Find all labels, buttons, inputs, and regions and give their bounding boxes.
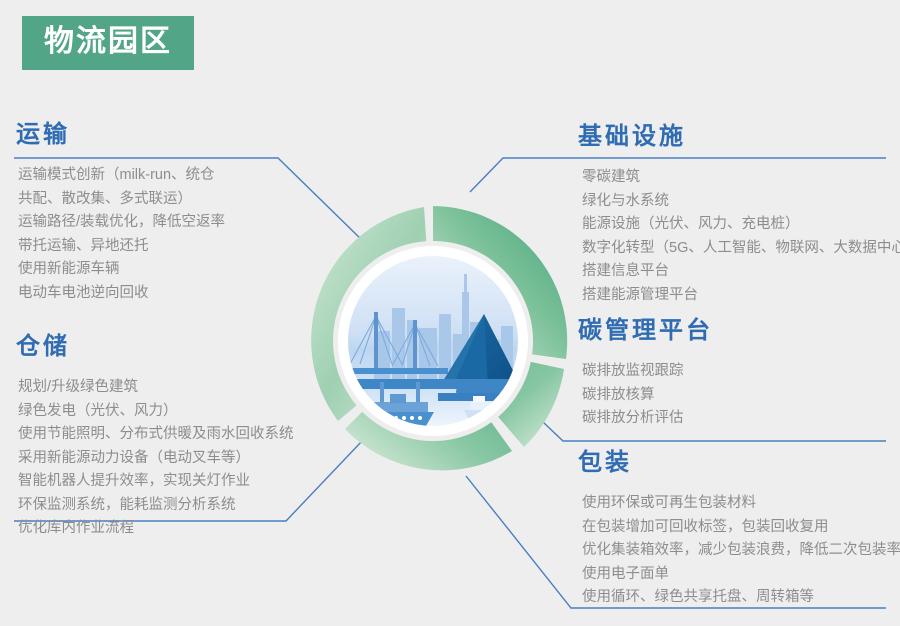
- list-item: 搭建能源管理平台: [582, 284, 900, 308]
- infographic-canvas: 物流园区: [0, 0, 900, 626]
- list-item: 碳排放核算: [582, 384, 713, 408]
- list-item: 搭建信息平台: [582, 260, 900, 284]
- section-infrastructure-lines: 零碳建筑 绿化与水系统 能源设施（光伏、风力、充电桩） 数字化转型（5G、人工智…: [578, 166, 900, 307]
- logistics-park-illustration: [288, 196, 578, 486]
- list-item: 使用节能照明、分布式供暖及雨水回收系统: [18, 423, 294, 447]
- list-item: 运输模式创新（milk-run、统仓: [18, 164, 225, 188]
- section-packaging-heading: 包装: [578, 448, 900, 478]
- section-warehouse-heading: 仓储: [16, 332, 294, 362]
- list-item: 碳排放监视跟踪: [582, 360, 713, 384]
- list-item: 在包装增加可回收标签，包装回收复用: [582, 516, 900, 540]
- section-warehouse: 仓储 规划/升级绿色建筑 绿色发电（光伏、风力） 使用节能照明、分布式供暖及雨水…: [16, 332, 294, 541]
- section-warehouse-lines: 规划/升级绿色建筑 绿色发电（光伏、风力） 使用节能照明、分布式供暖及雨水回收系…: [16, 376, 294, 541]
- list-item: 使用环保或可再生包装材料: [582, 492, 900, 516]
- list-item: 数字化转型（5G、人工智能、物联网、大数据中心）: [582, 237, 900, 261]
- list-item: 电动车电池逆向回收: [18, 282, 225, 306]
- list-item: 共配、散改集、多式联运）: [18, 188, 225, 212]
- section-packaging: 包装 使用环保或可再生包装材料 在包装增加可回收标签，包装回收复用 优化集装箱效…: [578, 448, 900, 610]
- list-item: 采用新能源动力设备（电动叉车等）: [18, 447, 294, 471]
- list-item: 环保监测系统，能耗监测分析系统: [18, 494, 294, 518]
- list-item: 智能机器人提升效率，实现关灯作业: [18, 470, 294, 494]
- list-item: 使用电子面单: [582, 563, 900, 587]
- list-item: 规划/升级绿色建筑: [18, 376, 294, 400]
- page-title-badge: 物流园区: [22, 16, 194, 70]
- list-item: 绿化与水系统: [582, 190, 900, 214]
- list-item: 使用循环、绿色共享托盘、周转箱等: [582, 586, 900, 610]
- section-infrastructure-heading: 基础设施: [578, 122, 900, 152]
- list-item: 能源设施（光伏、风力、充电桩）: [582, 213, 900, 237]
- section-infrastructure: 基础设施 零碳建筑 绿化与水系统 能源设施（光伏、风力、充电桩） 数字化转型（5…: [578, 122, 900, 307]
- section-transport-lines: 运输模式创新（milk-run、统仓 共配、散改集、多式联运） 运输路径/装载优…: [16, 164, 225, 305]
- list-item: 运输路径/装载优化，降低空返率: [18, 211, 225, 235]
- page-title: 物流园区: [44, 24, 172, 60]
- section-transport-heading: 运输: [16, 120, 225, 150]
- section-packaging-lines: 使用环保或可再生包装材料 在包装增加可回收标签，包装回收复用 优化集装箱效率，减…: [578, 492, 900, 610]
- section-carbon-platform-heading: 碳管理平台: [578, 316, 713, 346]
- list-item: 零碳建筑: [582, 166, 900, 190]
- list-item: 碳排放分析评估: [582, 407, 713, 431]
- list-item: 使用新能源车辆: [18, 258, 225, 282]
- list-item: 带托运输、异地还托: [18, 235, 225, 259]
- list-item: 优化集装箱效率，减少包装浪费，降低二次包装率: [582, 539, 900, 563]
- section-carbon-platform-lines: 碳排放监视跟踪 碳排放核算 碳排放分析评估: [578, 360, 713, 431]
- list-item: 优化库内作业流程: [18, 517, 294, 541]
- section-transport: 运输 运输模式创新（milk-run、统仓 共配、散改集、多式联运） 运输路径/…: [16, 120, 225, 305]
- list-item: 绿色发电（光伏、风力）: [18, 400, 294, 424]
- section-carbon-platform: 碳管理平台 碳排放监视跟踪 碳排放核算 碳排放分析评估: [578, 316, 713, 431]
